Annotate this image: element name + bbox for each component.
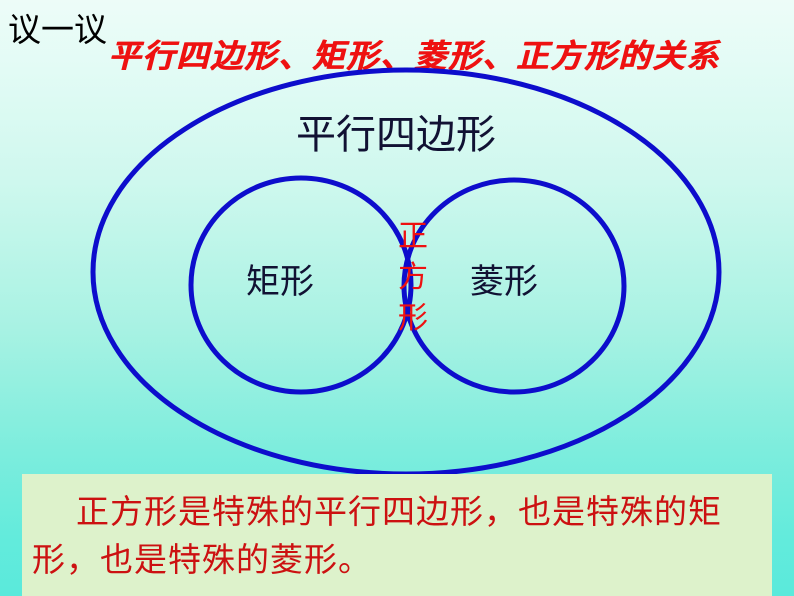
venn-label-square-char-1: 正: [390, 216, 436, 257]
slide-canvas: 议一议 平行四边形、矩形、菱形、正方形的关系 平行四边形 矩形 菱形 正 方 形…: [0, 0, 794, 596]
venn-label-square-char-2: 方: [390, 257, 436, 298]
venn-label-rectangle: 矩形: [246, 262, 314, 302]
venn-label-parallelogram: 平行四边形: [0, 112, 794, 158]
venn-label-square: 正 方 形: [390, 216, 436, 339]
venn-label-square-char-3: 形: [390, 298, 436, 339]
summary-note-box: 正方形是特殊的平行四边形，也是特殊的矩形，也是特殊的菱形。: [22, 474, 772, 596]
summary-note-text: 正方形是特殊的平行四边形，也是特殊的矩形，也是特殊的菱形。: [32, 488, 762, 584]
venn-label-rhombus: 菱形: [470, 262, 538, 302]
